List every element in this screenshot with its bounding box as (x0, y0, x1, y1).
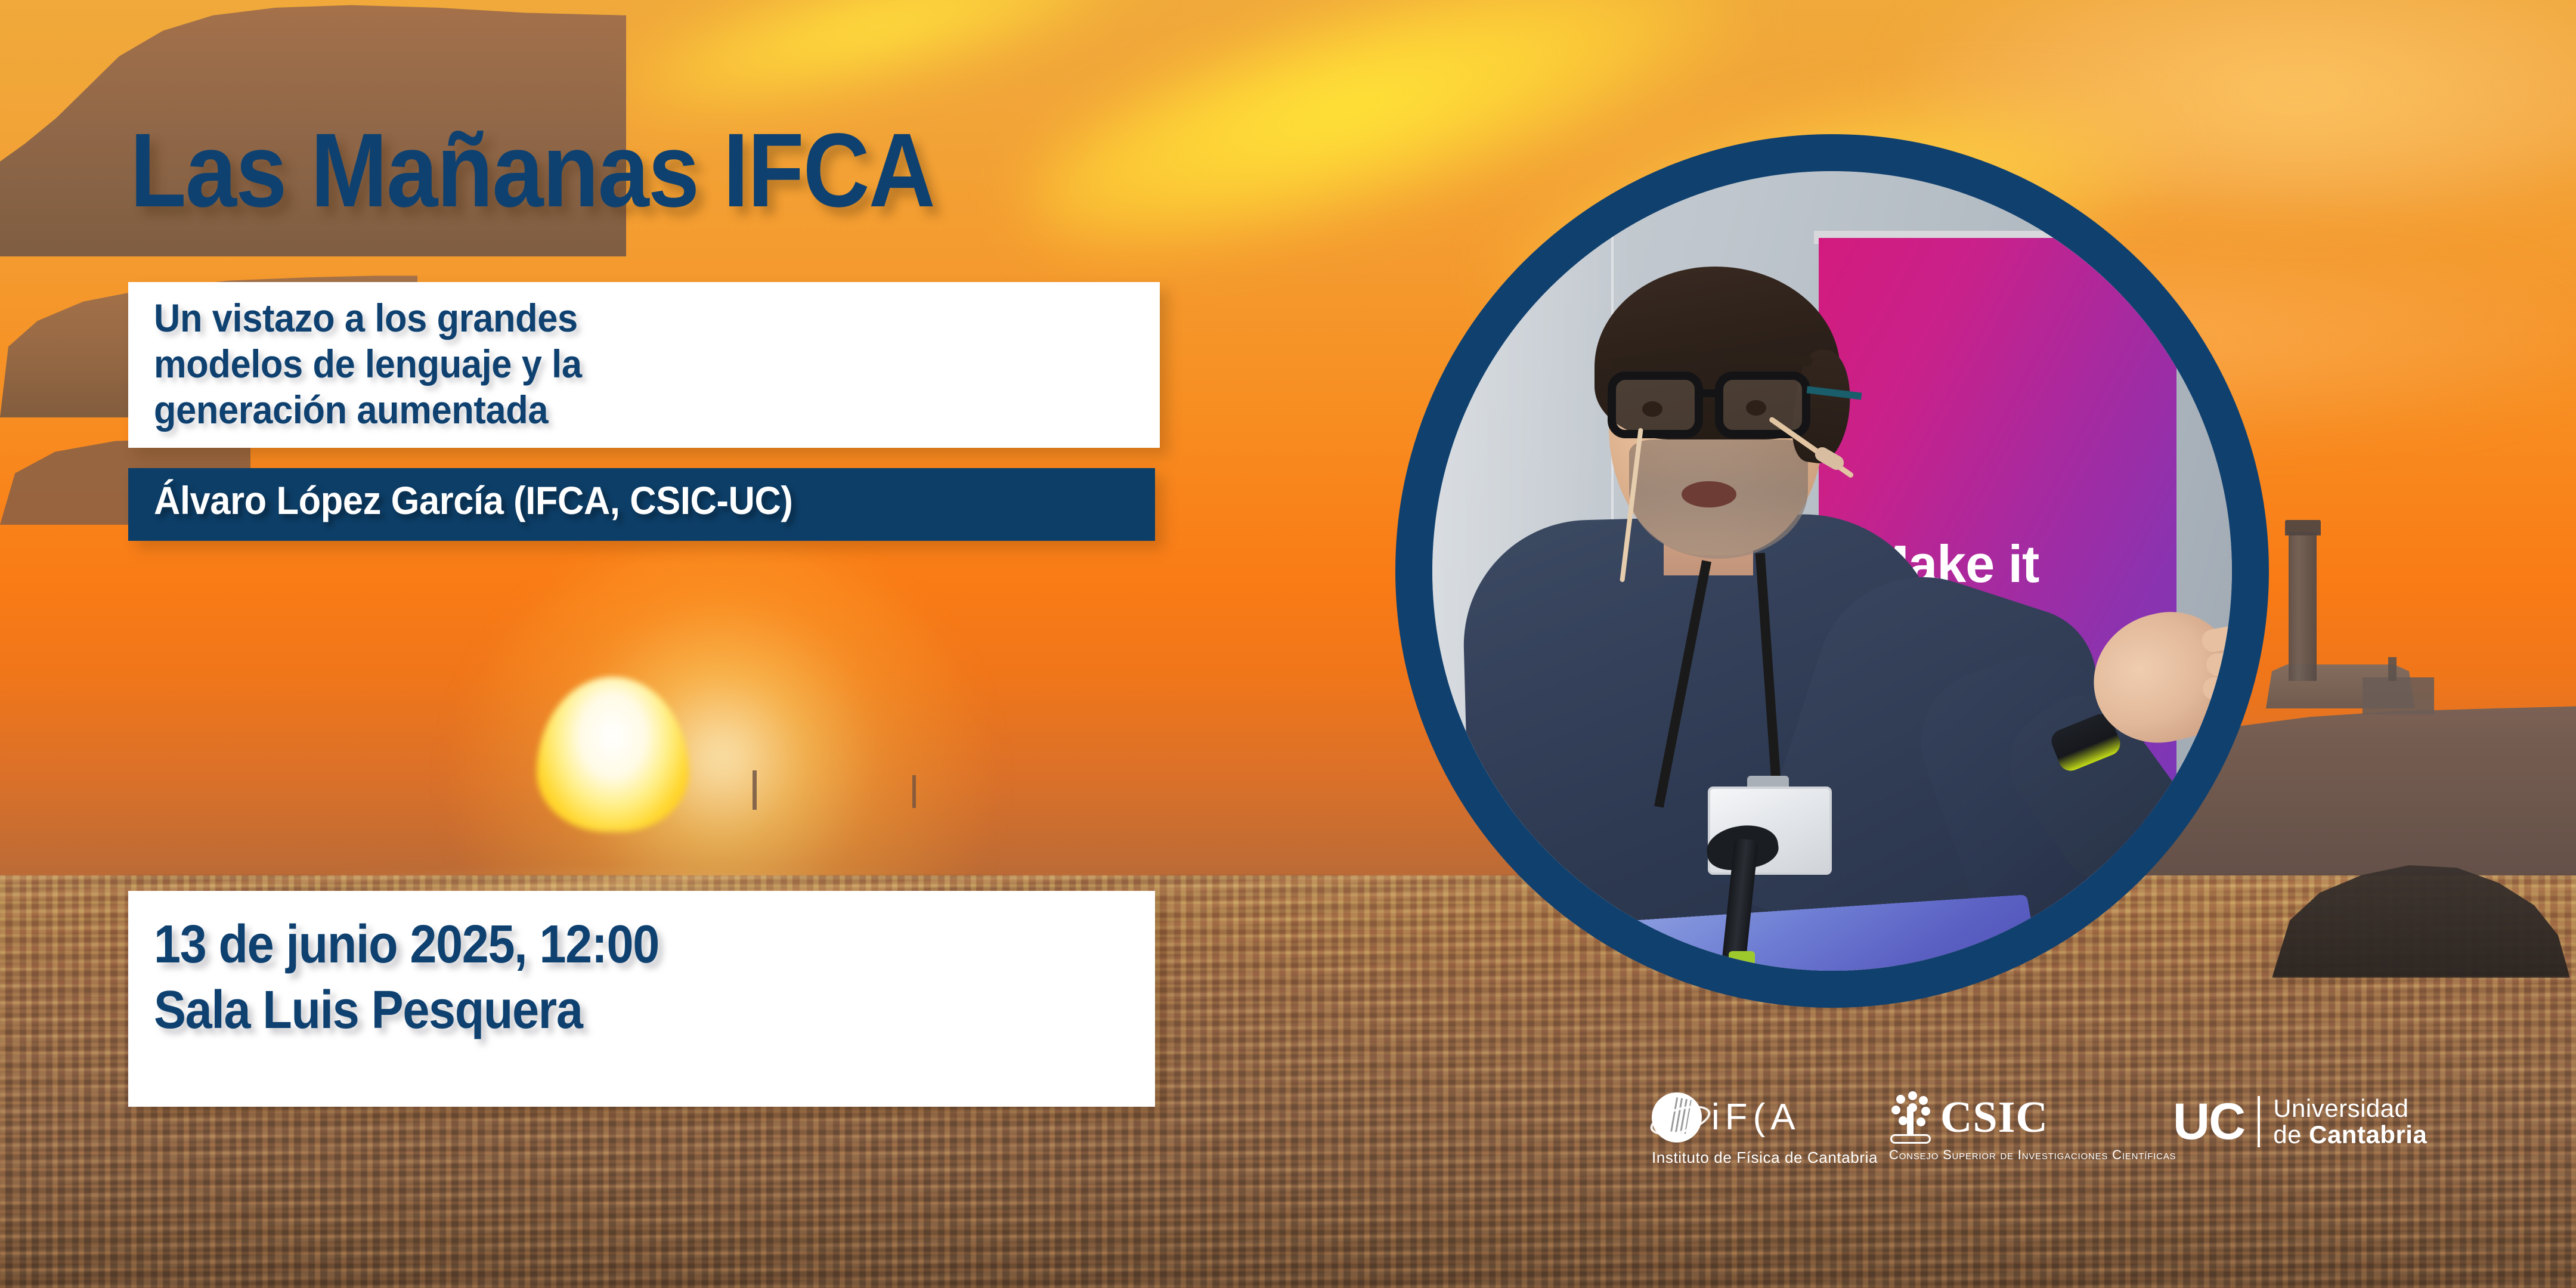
ifca-wordmark: iF(A (1711, 1099, 1801, 1136)
talk-subtitle: Un vistazo a los grandes modelos de leng… (154, 295, 1063, 434)
uc-line-1: Universidad (2273, 1095, 2427, 1122)
subtitle-line-3: generación aumentada (154, 388, 548, 432)
speaker-name: Álvaro López García (IFCA, CSIC-UC) (154, 479, 1063, 522)
speaker-mouth (1682, 481, 1736, 507)
lighthouse-tower (2289, 532, 2317, 681)
uc-divider (2258, 1096, 2260, 1147)
subtitle-line-2: modelos de lenguaje y la (154, 342, 582, 386)
sponsor-logo-row: iF(A Instituto de Física de Cantabria (1652, 1089, 2475, 1190)
antenna-mast (753, 770, 757, 810)
lighthouse-annex (2363, 677, 2434, 714)
speaker-photo: Make it (1432, 171, 2232, 971)
subtitle-line-1: Un vistazo a los grandes (154, 296, 578, 340)
lighthouse-chimney (2388, 657, 2397, 681)
csic-wordmark: CSIC (1940, 1095, 2048, 1140)
lighthouse-lamp (2285, 520, 2321, 535)
podium-microphone-accent (1729, 951, 1755, 968)
event-datetime: 13 de junio 2025, 12:00 (154, 915, 659, 974)
uc-line-2-bold: Cantabria (2309, 1120, 2427, 1148)
ifca-logo: iF(A Instituto de Física de Cantabria (1652, 1089, 1860, 1178)
ifca-disc-icon (1652, 1092, 1702, 1143)
uc-line-2: de Cantabria (2273, 1122, 2427, 1148)
uc-logo: UC Universidad de Cantabria (2173, 1089, 2427, 1154)
event-poster: Make it (0, 0, 2576, 1288)
event-venue: Sala Luis Pesquera (154, 978, 1034, 1044)
csic-tagline: Consejo Superior de Investigaciones Cien… (1889, 1147, 2140, 1163)
ifca-tagline: Instituto de Física de Cantabria (1652, 1148, 1860, 1167)
event-details: 13 de junio 2025, 12:00 Sala Luis Pesque… (154, 912, 1034, 1044)
speaker-photo-circle: Make it (1395, 134, 2269, 1008)
antenna-mast-2 (912, 775, 916, 808)
uc-line-2-light: de (2273, 1120, 2309, 1148)
csic-tree-emblem-icon (1889, 1090, 1932, 1145)
csic-logo: CSIC Consejo Superior de Investigaciones… (1889, 1089, 2140, 1178)
uc-wordmark: UC (2173, 1096, 2244, 1147)
page-title: Las Mañanas IFCA (130, 118, 934, 223)
